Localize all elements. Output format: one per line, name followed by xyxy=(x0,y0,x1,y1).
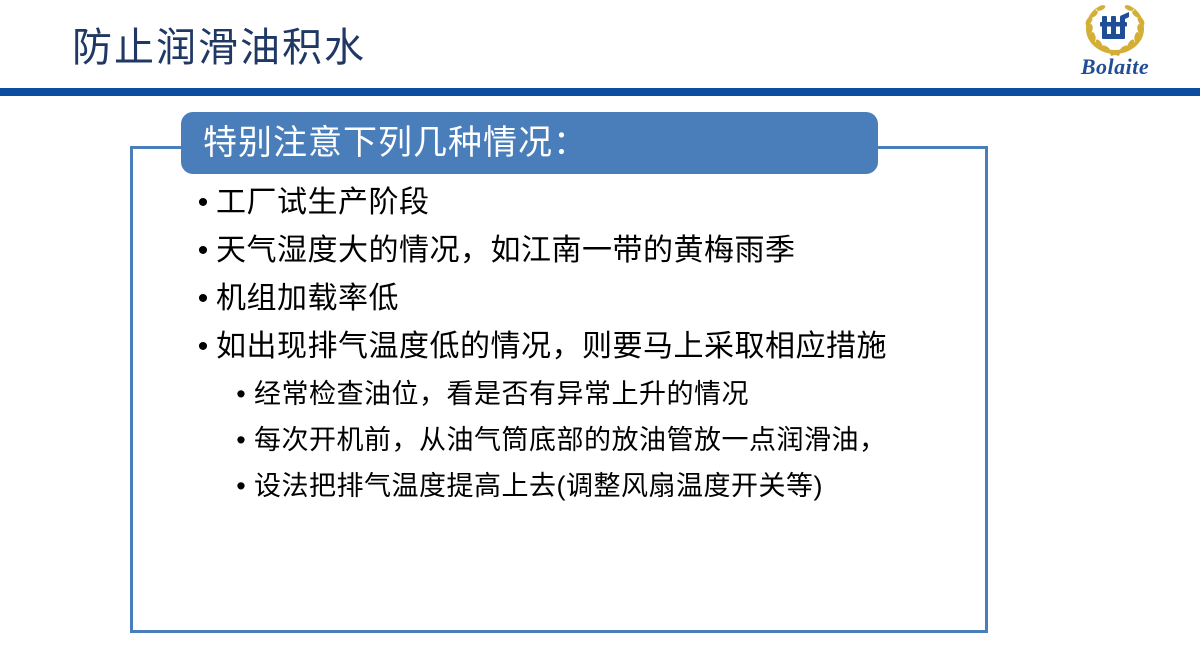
brand-wordmark: Bolaite xyxy=(1052,54,1178,80)
list-item: •设法把排气温度提高上去(调整风扇温度开关等) xyxy=(228,464,980,508)
list-item: •每次开机前，从油气筒底部的放油管放一点润滑油， xyxy=(228,418,980,462)
bullet-dot-icon: • xyxy=(190,228,216,274)
list-item-label: 天气湿度大的情况，如江南一带的黄梅雨季 xyxy=(216,228,980,274)
list-item-label: 工厂试生产阶段 xyxy=(216,180,980,226)
callout-header-banner: 特别注意下列几种情况： xyxy=(181,112,878,174)
header-divider-rule xyxy=(0,88,1200,96)
list-item-label: 经常检查油位，看是否有异常上升的情况 xyxy=(254,372,980,416)
list-item: •工厂试生产阶段 xyxy=(190,180,980,226)
bullet-dot-icon: • xyxy=(228,372,254,416)
list-item-label: 每次开机前，从油气筒底部的放油管放一点润滑油， xyxy=(254,418,980,462)
brand-logo: Bolaite xyxy=(1052,2,1178,86)
bullet-dot-icon: • xyxy=(190,324,216,370)
list-item: •如出现排气温度低的情况，则要马上采取相应措施 xyxy=(190,324,980,370)
list-item: •经常检查油位，看是否有异常上升的情况 xyxy=(228,372,980,416)
slide-header: 防止润滑油积水 xyxy=(0,0,1200,96)
bullet-dot-icon: • xyxy=(190,180,216,226)
callout-header-label: 特别注意下列几种情况： xyxy=(203,118,878,168)
list-item-label: 机组加载率低 xyxy=(216,276,980,322)
bullet-dot-icon: • xyxy=(228,418,254,462)
list-item-label: 如出现排气温度低的情况，则要马上采取相应措施 xyxy=(216,324,980,370)
list-item: •天气湿度大的情况，如江南一带的黄梅雨季 xyxy=(190,228,980,274)
list-item: •机组加载率低 xyxy=(190,276,980,322)
bolaite-emblem-icon xyxy=(1078,2,1152,58)
page-title: 防止润滑油积水 xyxy=(72,20,366,76)
bullet-dot-icon: • xyxy=(190,276,216,322)
list-item-label: 设法把排气温度提高上去(调整风扇温度开关等) xyxy=(254,464,980,508)
bullet-list: •工厂试生产阶段•天气湿度大的情况，如江南一带的黄梅雨季•机组加载率低•如出现排… xyxy=(190,180,980,510)
bullet-dot-icon: • xyxy=(228,464,254,508)
